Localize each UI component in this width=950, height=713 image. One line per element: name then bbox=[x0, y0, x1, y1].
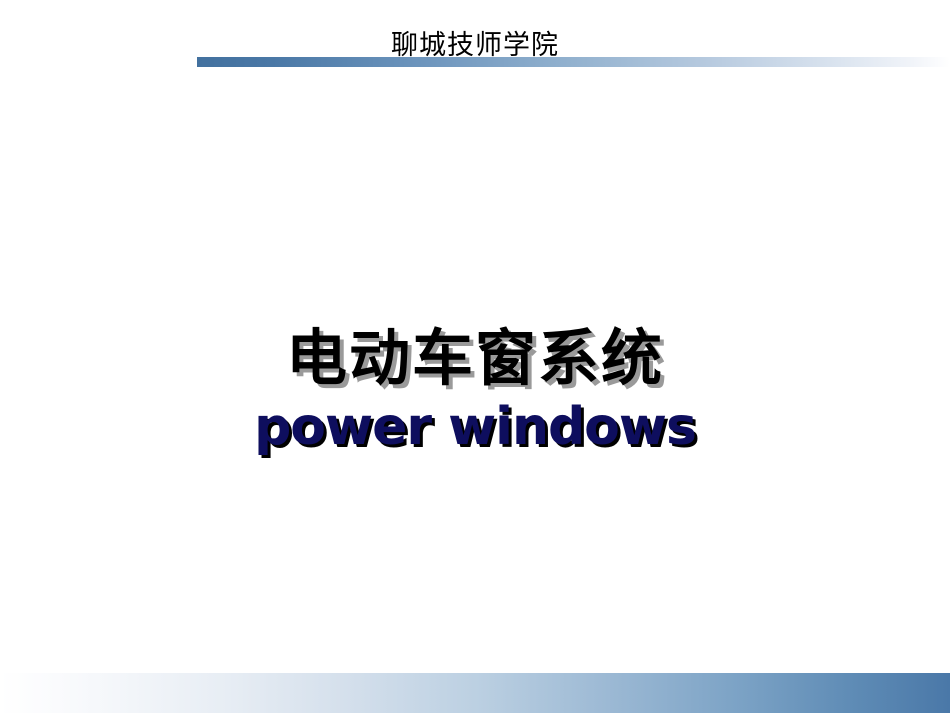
slide-header: 聊城技师学院 bbox=[0, 0, 950, 80]
slide-body: 电动车窗系统 power windows bbox=[0, 80, 950, 673]
slide-title-english: power windows bbox=[0, 397, 950, 457]
slide-title-chinese: 电动车窗系统 bbox=[0, 323, 950, 395]
title-block: 电动车窗系统 power windows bbox=[0, 323, 950, 457]
institution-name: 聊城技师学院 bbox=[0, 30, 950, 62]
presentation-slide: 聊城技师学院 电动车窗系统 power windows bbox=[0, 0, 950, 713]
footer-gradient-rule bbox=[0, 673, 950, 713]
